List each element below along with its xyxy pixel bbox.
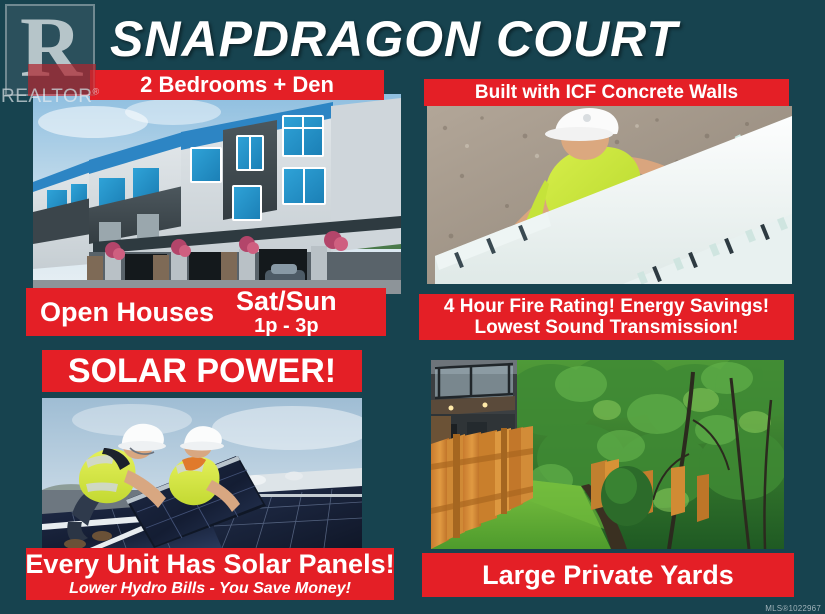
fire-rating-line-1: 4 Hour Fire Rating! Energy Savings! [444,296,769,317]
open-houses-days: Sat/Sun [236,288,337,315]
page-title: SNAPDRAGON COURT [110,8,810,70]
solar-power-label: SOLAR POWER! [68,353,336,389]
banner-fire-rating: 4 Hour Fire Rating! Energy Savings! Lowe… [419,294,794,340]
realtor-logo-box [5,4,95,96]
private-yards-label: Large Private Yards [482,561,734,590]
banner-bedrooms: 2 Bedrooms + Den [90,70,384,100]
mls-number: MLS®1022967 [765,604,821,613]
listing-poster: R REALTOR® SNAPDRAGON COURT 2 Bedrooms +… [0,0,825,614]
icf-block-installation-photo [427,106,792,284]
solar-panels-line-1: Every Unit Has Solar Panels! [26,550,394,579]
open-houses-label: Open Houses [40,297,214,327]
private-backyard-photo [431,360,784,549]
fire-rating-line-2: Lowest Sound Transmission! [475,317,739,338]
solar-panel-installation-photo [42,398,362,548]
banner-open-houses: Open Houses Sat/Sun 1p - 3p [26,288,386,336]
banner-solar-panels: Every Unit Has Solar Panels! Lower Hydro… [26,548,394,600]
realtor-r-letter: R [12,4,90,92]
banner-private-yards: Large Private Yards [422,553,794,597]
realtor-logo-red-block [28,64,96,96]
townhouse-exterior-photo [33,94,401,294]
banner-icf-walls-label: Built with ICF Concrete Walls [475,82,738,104]
solar-panels-line-2: Lower Hydro Bills - You Save Money! [69,579,351,598]
open-houses-time: 1p - 3p [254,315,318,337]
banner-bedrooms-label: 2 Bedrooms + Den [140,70,334,100]
banner-solar-power: SOLAR POWER! [42,350,362,392]
open-houses-schedule: Sat/Sun 1p - 3p [236,288,337,336]
banner-icf-walls: Built with ICF Concrete Walls [424,79,789,106]
